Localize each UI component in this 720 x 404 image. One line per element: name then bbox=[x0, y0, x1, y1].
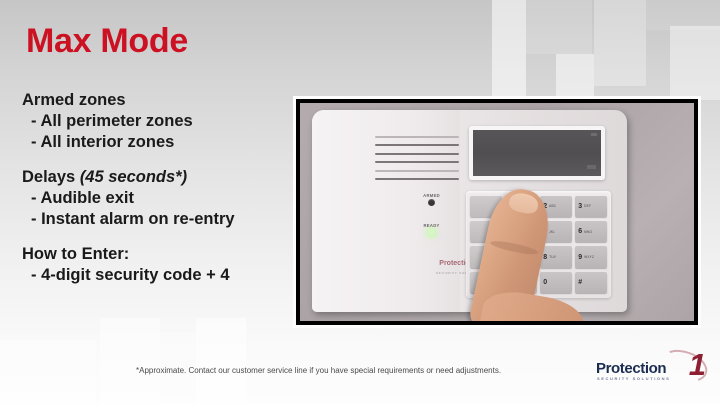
decorative-rectangle bbox=[670, 26, 720, 100]
key-number: 8 bbox=[543, 254, 547, 261]
fingernail bbox=[508, 191, 540, 215]
lcd-marker-icon bbox=[591, 133, 597, 136]
indicator-armed: ARMED bbox=[391, 193, 473, 206]
key-number: 6 bbox=[578, 228, 582, 235]
key-number: 9 bbox=[578, 254, 582, 261]
block-heading: Delays bbox=[22, 168, 75, 186]
content-block-delays: Delays (45 seconds*) - Audible exit - In… bbox=[22, 167, 290, 230]
key-number: 0 bbox=[543, 279, 547, 286]
slide-canvas: Max Mode Armed zones - All perimeter zon… bbox=[0, 0, 720, 404]
key-letters: MNO bbox=[584, 230, 592, 234]
led-ready-icon bbox=[428, 229, 435, 236]
alarm-panel: ARMED READY Protection1 SECURITY SOLUTIO… bbox=[312, 110, 627, 313]
photo-frame: ARMED READY Protection1 SECURITY SOLUTIO… bbox=[293, 96, 701, 328]
decorative-rectangle bbox=[100, 318, 160, 404]
key-0[interactable]: 0 bbox=[540, 272, 572, 293]
key-8[interactable]: 8TUV bbox=[540, 246, 572, 267]
indicator-ready: READY bbox=[391, 223, 473, 236]
brand-name: Protection bbox=[596, 360, 666, 377]
indicator-label: ARMED bbox=[391, 193, 473, 198]
key-letters: JKL bbox=[549, 230, 555, 234]
knuckle-crease bbox=[489, 239, 539, 258]
brand-logo: 1 Protection SECURITY SOLUTIONS bbox=[596, 352, 708, 386]
block-heading: Armed zones bbox=[22, 90, 290, 111]
key-letters: ABC bbox=[549, 204, 556, 208]
decorative-rectangle bbox=[556, 54, 594, 102]
led-armed-icon bbox=[428, 199, 435, 206]
brand-numeral: 1 bbox=[689, 349, 706, 380]
decorative-rectangle bbox=[646, 0, 720, 30]
key-letters: WXYZ bbox=[584, 255, 594, 259]
block-item: - 4-digit security code + 4 bbox=[22, 265, 290, 286]
alarm-keypad-photo: ARMED READY Protection1 SECURITY SOLUTIO… bbox=[296, 99, 698, 325]
indicator-label: READY bbox=[391, 223, 473, 228]
block-heading-row: Delays (45 seconds*) bbox=[22, 167, 290, 188]
lcd-display bbox=[473, 130, 601, 177]
key-3[interactable]: 3DEF bbox=[575, 196, 607, 217]
key-hash[interactable]: # bbox=[575, 272, 607, 293]
block-item: - All perimeter zones bbox=[22, 111, 290, 132]
decorative-rectangle bbox=[594, 0, 646, 86]
block-item: - Audible exit bbox=[22, 188, 290, 209]
key-6[interactable]: 6MNO bbox=[575, 221, 607, 242]
block-heading: How to Enter: bbox=[22, 244, 290, 265]
decorative-rectangle bbox=[0, 340, 96, 404]
slide-title: Max Mode bbox=[26, 22, 188, 61]
content-block-how-to-enter: How to Enter: - 4-digit security code + … bbox=[22, 244, 290, 286]
block-item: - All interior zones bbox=[22, 132, 290, 153]
block-item: - Instant alarm on re-entry bbox=[22, 209, 290, 230]
key-9[interactable]: 9WXYZ bbox=[575, 246, 607, 267]
brand-tagline: SECURITY SOLUTIONS bbox=[597, 376, 670, 381]
footnote: *Approximate. Contact our customer servi… bbox=[136, 366, 501, 375]
block-heading-note: (45 seconds*) bbox=[80, 168, 187, 186]
key-number: # bbox=[578, 279, 582, 286]
slide-body: Armed zones - All perimeter zones - All … bbox=[22, 90, 290, 300]
key-number: 3 bbox=[578, 203, 582, 210]
decorative-rectangle bbox=[526, 0, 592, 54]
content-block-armed-zones: Armed zones - All perimeter zones - All … bbox=[22, 90, 290, 153]
lcd-bezel bbox=[469, 126, 605, 181]
key-letters: DEF bbox=[584, 204, 591, 208]
decorative-rectangle bbox=[492, 0, 526, 100]
decorative-rectangle bbox=[196, 318, 246, 404]
key-letters: TUV bbox=[549, 255, 556, 259]
lcd-marker-icon bbox=[587, 165, 596, 169]
